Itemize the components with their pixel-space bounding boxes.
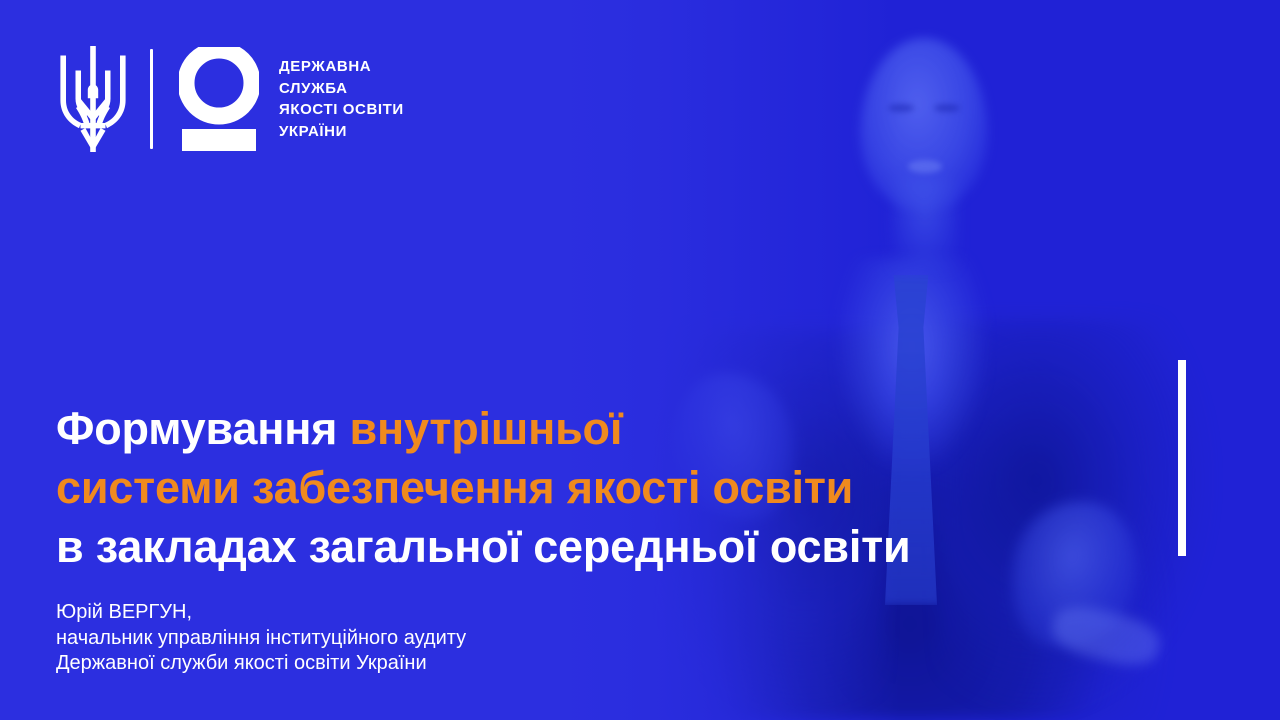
title-line-1: Формування внутрішньої — [56, 399, 910, 458]
logo-wordmark: ДЕРЖАВНА СЛУЖБА ЯКОСТІ ОСВІТИ УКРАЇНИ — [279, 56, 404, 142]
speaker-name: Юрій ВЕРГУН, — [56, 600, 466, 626]
sqe-circle-bar-icon — [179, 47, 259, 151]
title-line-2: системи забезпечення якості освіти — [56, 458, 910, 517]
wordmark-line-4: УКРАЇНИ — [279, 123, 347, 140]
speaker-credit: Юрій ВЕРГУН, начальник управління інстит… — [56, 600, 466, 677]
title-segment-orange: внутрішньої — [350, 403, 623, 454]
title-segment-orange: системи забезпечення якості освіти — [56, 462, 853, 513]
title-segment-white: Формування — [56, 403, 350, 454]
speaker-position: начальник управління інституційного ауди… — [56, 626, 466, 652]
logo-divider — [150, 49, 153, 149]
speaker-organization: Державної служби якості освіти України — [56, 651, 466, 677]
ukraine-trident-icon — [56, 46, 130, 152]
wordmark-line-2: СЛУЖБА — [279, 80, 348, 97]
logo-lockup: ДЕРЖАВНА СЛУЖБА ЯКОСТІ ОСВІТИ УКРАЇНИ — [56, 46, 404, 152]
vertical-accent-bar — [1178, 360, 1186, 556]
title-segment-white: в закладах загальної середньої освіти — [56, 521, 910, 572]
wordmark-line-3: ЯКОСТІ ОСВІТИ — [279, 101, 404, 118]
page-title: Формування внутрішньої системи забезпече… — [56, 399, 910, 576]
wordmark-line-1: ДЕРЖАВНА — [279, 58, 371, 75]
presentation-slide: ДЕРЖАВНА СЛУЖБА ЯКОСТІ ОСВІТИ УКРАЇНИ Фо… — [0, 0, 1280, 720]
title-line-3: в закладах загальної середньої освіти — [56, 517, 910, 576]
